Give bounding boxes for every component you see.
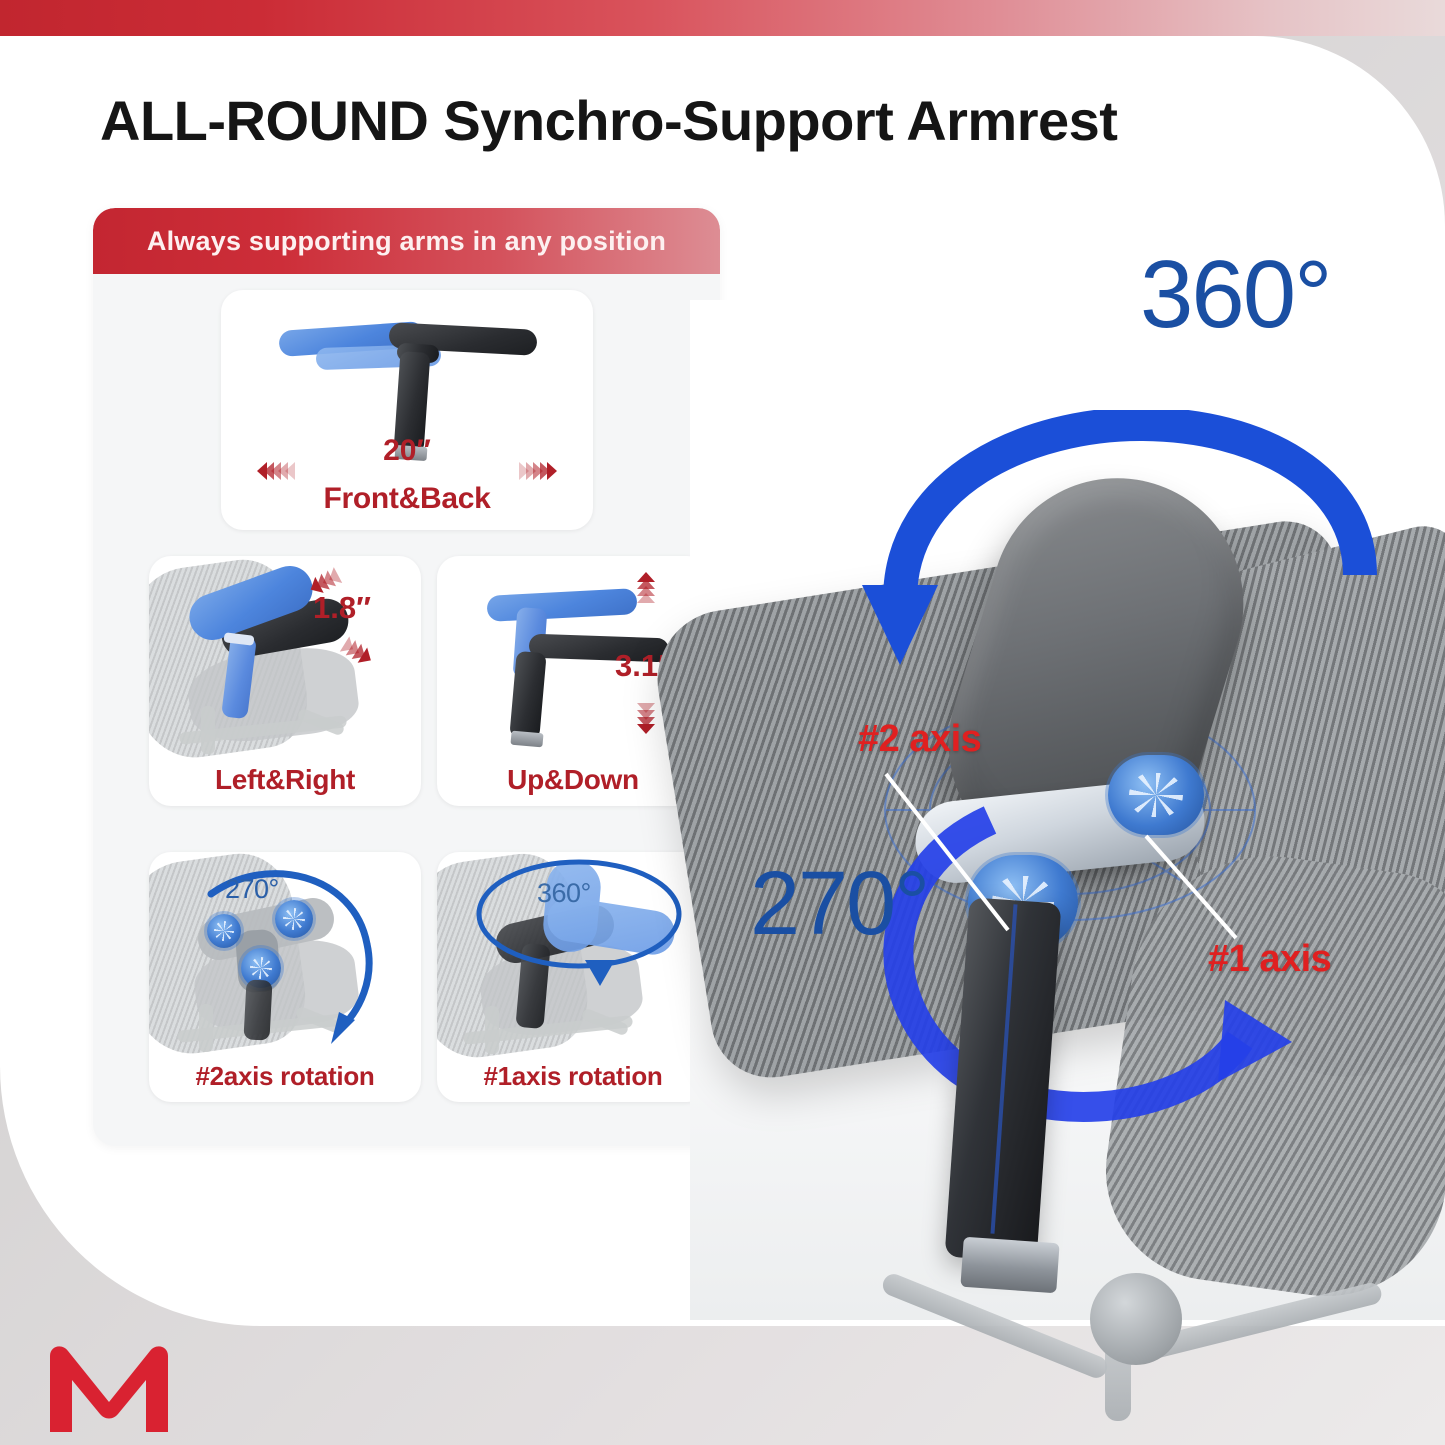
card-caption-up-down: Up&Down bbox=[437, 764, 709, 796]
card-degree-axis1: 360° bbox=[537, 878, 591, 909]
feature-card-axis1-rotation[interactable]: 360° #1axis rotation bbox=[437, 852, 709, 1102]
blue-curved-arrow-270 bbox=[149, 852, 421, 1052]
feature-card-front-back[interactable]: 20″ Front&Back bbox=[221, 290, 593, 530]
card-value-left-right: 1.8″ bbox=[313, 590, 371, 626]
degree-label-360: 360° bbox=[1140, 240, 1331, 350]
card-caption-axis2: #2axis rotation bbox=[149, 1061, 421, 1092]
chair-base-knob bbox=[1090, 1273, 1182, 1365]
panel-banner: Always supporting arms in any position bbox=[93, 208, 720, 274]
axis-1-label: #1 axis bbox=[1208, 938, 1331, 981]
feature-panel: Always supporting arms in any position bbox=[93, 208, 720, 1146]
axis-2-label: #2 axis bbox=[858, 718, 981, 761]
chevron-down-group bbox=[637, 706, 655, 734]
blue-rotation-ring-360 bbox=[840, 410, 1400, 710]
axis-2-leader-line bbox=[880, 768, 1070, 958]
letter-m-logo bbox=[42, 1340, 177, 1435]
page-title: ALL-ROUND Synchro-Support Armrest bbox=[100, 88, 1117, 153]
card-caption-front-back: Front&Back bbox=[221, 482, 593, 516]
top-red-band bbox=[0, 0, 1445, 36]
card-value-front-back: 20″ bbox=[221, 434, 593, 468]
axis-1-leader-line bbox=[1140, 830, 1270, 950]
feature-card-axis2-rotation[interactable]: 270° #2axis rotation bbox=[149, 852, 421, 1102]
feature-card-left-right[interactable]: 1.8″ Left&Right bbox=[149, 556, 421, 806]
infographic-canvas: ALL-ROUND Synchro-Support Armrest Always… bbox=[0, 0, 1445, 1445]
card-caption-left-right: Left&Right bbox=[149, 764, 421, 796]
chair-base bbox=[875, 1255, 1395, 1425]
card-caption-axis1: #1axis rotation bbox=[437, 1061, 709, 1092]
card-degree-axis2: 270° bbox=[225, 874, 279, 905]
chevron-up-group bbox=[637, 572, 655, 600]
panel-banner-label: Always supporting arms in any position bbox=[147, 226, 666, 257]
